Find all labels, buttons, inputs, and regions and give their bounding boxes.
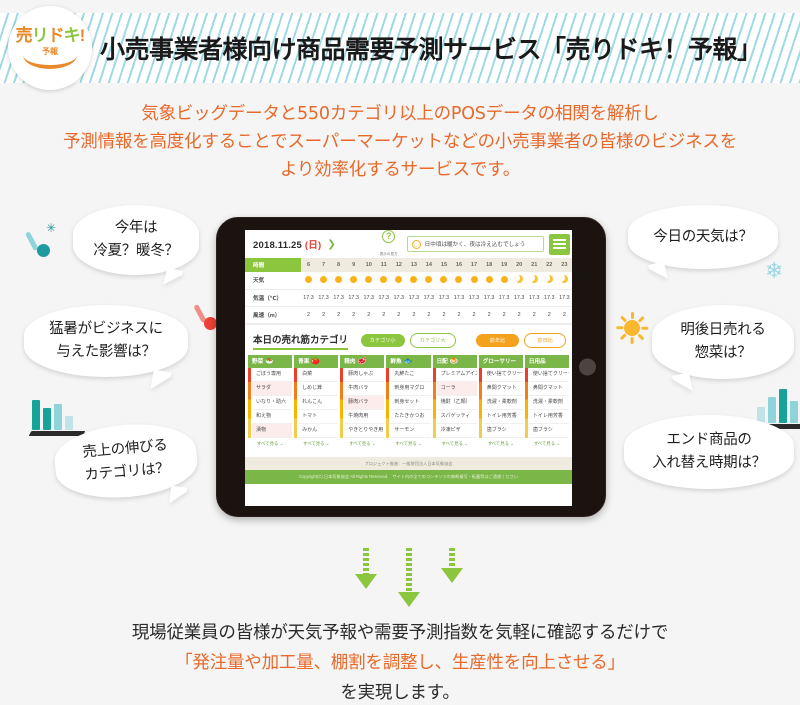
category-item[interactable]: れんこん — [298, 396, 338, 410]
moon-icon — [530, 275, 538, 283]
weather-value-cell: 17.3 — [497, 289, 512, 306]
logo-main-text: 売リドキ! — [16, 27, 85, 44]
help-button[interactable]: ? 表示の見方 — [380, 230, 398, 259]
category-item[interactable]: 刺身用マグロ — [390, 382, 430, 396]
show-all-link[interactable]: すべて見る ⌄ — [386, 438, 430, 452]
category-item[interactable]: みかん — [298, 424, 338, 438]
category-header: 日用品 — [525, 355, 569, 368]
bubble-line: 猛暑がビジネスに — [49, 318, 163, 341]
category-column: 日配🍮プレミアムアイスコーラ焼酎（乙類）スパゲッティ冷凍ピザすべて見る ⌄ — [433, 355, 477, 452]
category-items: 丸鮮たこ刺身用マグロ刺身セットたたきかつおサーモン — [386, 368, 430, 438]
closing-line-1: 現場従業員の皆様が天気予報や需要予測指数を気軽に確認するだけで — [0, 618, 800, 648]
category-item[interactable]: 洗濯・柔軟剤 — [483, 396, 523, 410]
bubble-cool-summer-warm-winter: 今年は 冷夏？暖冬？ — [73, 205, 199, 275]
rank-gradient-bar — [433, 368, 436, 438]
weather-icon-cell — [406, 272, 421, 289]
sun-icon — [471, 276, 478, 283]
weather-value-cell: 17.3 — [331, 289, 346, 306]
weather-value-cell: 2 — [527, 306, 542, 323]
category-items: ごぼう専用サラダいなり・助六和え物漬物 — [248, 368, 292, 438]
bubble-line: 今日の天気は？ — [653, 226, 752, 249]
sun-icon — [425, 276, 432, 283]
category-item[interactable]: 鼻間クマット — [529, 382, 569, 396]
sun-icon — [350, 276, 357, 283]
bubble-line: 与えた影響は？ — [56, 341, 155, 364]
category-name: 日用品 — [529, 357, 546, 365]
weather-row: 風速（m）222222222222222222 — [245, 306, 572, 323]
category-items: 豚肉しゃぶ牛肉バラ豚肉バラ牛焼肉用やきとりやき用 — [340, 368, 384, 438]
tablet-home-button[interactable] — [579, 359, 596, 376]
moon-icon — [545, 275, 553, 283]
bubble-heatwave-impact: 猛暑がビジネスに 与えた影響は？ — [24, 305, 188, 377]
weather-row: 時間67891011121314151617181920212223 — [245, 258, 572, 272]
category-name: 精肉 — [344, 357, 355, 365]
page-root: 売リドキ! 予報 小売事業者様向け商品需要予測サービス「売りドキ！予報」 気象ビ… — [0, 0, 800, 705]
rank-gradient-bar — [386, 368, 389, 438]
category-item[interactable]: 漬物 — [252, 424, 292, 438]
bubble-todays-weather: 今日の天気は？ — [628, 205, 778, 269]
category-item[interactable]: やきとりやき用 — [344, 424, 384, 438]
category-header: グローサリー — [479, 355, 523, 368]
weather-message-text: 日中頃は暖かく、夜は冷え込むでしょう — [425, 240, 526, 248]
weather-value-cell: 17.3 — [436, 289, 451, 306]
weather-message-box: ◡ 日中頃は暖かく、夜は冷え込むでしょう — [407, 236, 544, 252]
weather-value-cell: 17.3 — [301, 289, 316, 306]
category-column: グローサリー使い捨てクリーナー鼻間クマット洗濯・柔軟剤トイレ用芳香歯ブラシすべて… — [479, 355, 523, 452]
weather-icon-cell — [557, 272, 572, 289]
sun-icon — [320, 276, 327, 283]
weather-value-cell: 6 — [301, 258, 316, 272]
lead-paragraph: 気象ビッグデータと550カテゴリ以上のPOSデータの相関を解析し 予測情報を高度… — [0, 100, 800, 184]
bubble-deli-sales-forecast: 明後日売れる 惣菜は？ — [652, 305, 794, 379]
down-arrow-icon — [398, 548, 420, 607]
weather-row-label: 天気 — [245, 272, 301, 289]
down-arrow-icon — [441, 548, 463, 583]
bubble-line: 惣菜は？ — [695, 342, 752, 365]
closing-line-2: 「発注量や加工量、棚割を調整し、生産性を向上させる」 — [0, 648, 800, 678]
category-item[interactable]: 使い捨てクリーナー — [529, 368, 569, 382]
pill-day-over-day[interactable]: 前日比 — [524, 333, 566, 348]
weather-value-cell: 12 — [391, 258, 406, 272]
rank-gradient-bar — [340, 368, 343, 438]
weather-value-cell: 2 — [542, 306, 557, 323]
weather-value-cell: 17.3 — [527, 289, 542, 306]
category-item[interactable]: たたきかつお — [390, 410, 430, 424]
weather-value-cell: 17 — [467, 258, 482, 272]
category-item[interactable]: いなり・助六 — [252, 396, 292, 410]
rank-gradient-bar — [248, 368, 251, 438]
bubble-line: 入れ替え時期は？ — [652, 452, 766, 475]
category-item[interactable]: サラダ — [252, 382, 292, 396]
category-emblem-icon: 🥩 — [357, 358, 366, 365]
weather-icon-cell — [331, 272, 346, 289]
category-item[interactable]: ごぼう専用 — [252, 368, 292, 382]
sun-icon — [501, 276, 508, 283]
category-item[interactable]: スパゲッティ — [437, 410, 477, 424]
closing-line-3: を実現します。 — [0, 678, 800, 705]
weather-value-cell: 2 — [421, 306, 436, 323]
sun-icon — [440, 276, 447, 283]
rank-gradient-bar — [294, 368, 297, 438]
weather-icon-cell — [542, 272, 557, 289]
category-name: 鮮魚 — [390, 357, 401, 365]
question-mark-icon: ? — [382, 230, 395, 243]
weather-value-cell: 2 — [331, 306, 346, 323]
bubble-tail — [163, 267, 183, 288]
section-title: 本日の売れ筋カテゴリ — [253, 332, 348, 350]
weather-icon-cell — [376, 272, 391, 289]
weather-value-cell: 7 — [316, 258, 331, 272]
filter-pills: カテゴリ小 カテゴリ大 前年比 前日比 — [361, 333, 566, 348]
sun-icon — [380, 276, 387, 283]
bubble-tail — [648, 261, 668, 282]
category-item[interactable]: 白菜 — [298, 368, 338, 382]
weather-value-cell: 2 — [557, 306, 572, 323]
category-emblem-icon: 🍮 — [450, 358, 459, 365]
app-top-bar: 2018.11.25 (日) ❯ ? 表示の見方 ◡ 日中頃は暖かく、夜は冷え込… — [245, 230, 572, 258]
page-title: 小売事業者様向け商品需要予測サービス「売りドキ！予報」 — [100, 30, 762, 66]
weather-value-cell: 17.3 — [421, 289, 436, 306]
category-item[interactable]: 牛肉バラ — [344, 382, 384, 396]
sun-icon — [395, 276, 402, 283]
bubble-line: エンド商品の — [666, 429, 751, 452]
weather-icon-cell — [301, 272, 316, 289]
weather-value-cell: 2 — [451, 306, 466, 323]
pill-category-small[interactable]: カテゴリ小 — [361, 334, 405, 347]
weather-row-label: 風速（m） — [245, 306, 301, 323]
logo-arc-icon — [23, 55, 77, 69]
tablet-device: 2018.11.25 (日) ❯ ? 表示の見方 ◡ 日中頃は暖かく、夜は冷え込… — [216, 217, 606, 517]
lead-line-1: 気象ビッグデータと550カテゴリ以上のPOSデータの相関を解析し — [0, 100, 800, 128]
category-items: 白菜しめじ茸れんこんトマトみかん — [294, 368, 338, 438]
weather-value-cell: 17.3 — [361, 289, 376, 306]
weather-value-cell: 2 — [346, 306, 361, 323]
category-emblem-icon: 🥗 — [265, 358, 274, 365]
weather-value-cell: 17.3 — [451, 289, 466, 306]
category-item[interactable]: しめじ茸 — [298, 382, 338, 396]
weather-value-cell: 17.3 — [542, 289, 557, 306]
category-item[interactable]: 刺身セット — [390, 396, 430, 410]
bubble-line: 冷夏？暖冬？ — [93, 240, 178, 263]
category-item[interactable]: 歯ブラシ — [483, 424, 523, 438]
weather-value-cell: 2 — [361, 306, 376, 323]
weather-row: 気温（℃）17.317.317.317.317.317.317.317.317.… — [245, 289, 572, 306]
show-all-link[interactable]: すべて見る ⌄ — [479, 438, 523, 452]
weather-value-cell: 2 — [512, 306, 527, 323]
weather-value-cell: 9 — [346, 258, 361, 272]
category-column: 野菜🥗ごぼう専用サラダいなり・助六和え物漬物すべて見る ⌄ — [248, 355, 292, 452]
sun-icon — [486, 276, 493, 283]
weather-value-cell: 2 — [301, 306, 316, 323]
hamburger-menu-icon[interactable] — [549, 234, 570, 255]
category-header: 野菜🥗 — [248, 355, 292, 368]
category-name: 青果 — [298, 357, 309, 365]
weather-icon-cell — [391, 272, 406, 289]
weather-value-cell: 17.3 — [512, 289, 527, 306]
rank-gradient-bar — [525, 368, 528, 438]
weather-value-cell: 17.3 — [376, 289, 391, 306]
thermometer-cold-icon: ✳ — [30, 222, 62, 262]
category-item[interactable]: 豚肉バラ — [344, 396, 384, 410]
category-column: 精肉🥩豚肉しゃぶ牛肉バラ豚肉バラ牛焼肉用やきとりやき用すべて見る ⌄ — [340, 355, 384, 452]
show-all-link[interactable]: すべて見る ⌄ — [433, 438, 477, 452]
weather-value-cell: 19 — [497, 258, 512, 272]
category-item[interactable]: 冷凍ピザ — [437, 424, 477, 438]
bubble-tail — [150, 370, 171, 393]
weather-value-cell: 2 — [376, 306, 391, 323]
weather-value-cell: 14 — [421, 258, 436, 272]
sun-icon — [305, 276, 312, 283]
show-all-link[interactable]: すべて見る ⌄ — [248, 438, 292, 452]
best-sellers-section-header: 本日の売れ筋カテゴリ カテゴリ小 カテゴリ大 前年比 前日比 — [245, 324, 572, 355]
weather-value-cell: 2 — [467, 306, 482, 323]
weather-value-cell: 8 — [331, 258, 346, 272]
bubble-tail — [672, 372, 693, 394]
bubble-line: 今年は — [115, 217, 158, 240]
weather-icon-cell — [467, 272, 482, 289]
weather-icon-cell — [497, 272, 512, 289]
weather-value-cell: 17.3 — [316, 289, 331, 306]
app-footer-copyright: Copyright(C) 日本気象協会 All Rights Reserved.… — [245, 470, 572, 484]
weather-value-cell: 18 — [482, 258, 497, 272]
weather-value-cell: 17.3 — [467, 289, 482, 306]
sun-icon — [410, 276, 417, 283]
category-emblem-icon: 🍅 — [311, 358, 320, 365]
weather-icon-cell — [316, 272, 331, 289]
weather-icon-cell — [482, 272, 497, 289]
show-all-link[interactable]: すべて見る ⌄ — [294, 438, 338, 452]
weather-value-cell: 2 — [497, 306, 512, 323]
weather-value-cell: 21 — [527, 258, 542, 272]
weather-row-label: 気温（℃） — [245, 289, 301, 306]
rank-gradient-bar — [479, 368, 482, 438]
weather-row: 天気 — [245, 272, 572, 289]
down-arrows-group — [355, 548, 465, 610]
weather-value-cell: 17.3 — [557, 289, 572, 306]
category-item[interactable]: 和え物 — [252, 410, 292, 424]
weather-value-cell: 11 — [376, 258, 391, 272]
sun-icon — [455, 276, 462, 283]
weather-value-cell: 16 — [451, 258, 466, 272]
down-arrow-icon — [355, 548, 377, 589]
show-all-link[interactable]: すべて見る ⌄ — [340, 438, 384, 452]
category-header: 日配🍮 — [433, 355, 477, 368]
category-item[interactable]: 牛焼肉用 — [344, 410, 384, 424]
category-column: 青果🍅白菜しめじ茸れんこんトマトみかんすべて見る ⌄ — [294, 355, 338, 452]
weather-value-cell: 2 — [406, 306, 421, 323]
category-item[interactable]: 豚肉しゃぶ — [344, 368, 384, 382]
weather-value-cell: 23 — [557, 258, 572, 272]
day-of-week: (日) — [305, 240, 321, 251]
current-date: 2018.11.25 (日) — [253, 237, 321, 251]
app-footer-credit: プロジェクト推進：一般財団法人日本気象協会 — [245, 457, 572, 470]
bubble-endcap-rotation: エンド商品の 入れ替え時期は？ — [624, 415, 794, 489]
weather-value-cell: 2 — [316, 306, 331, 323]
category-column: 日用品使い捨てクリーナー鼻間クマット洗濯・柔軟剤トイレ用芳香歯ブラシすべて見る … — [525, 355, 569, 452]
weather-value-cell: 2 — [436, 306, 451, 323]
category-header: 精肉🥩 — [340, 355, 384, 368]
weather-icon-cell — [361, 272, 376, 289]
category-items: 使い捨てクリーナー鼻間クマット洗濯・柔軟剤トイレ用芳香歯ブラシ — [479, 368, 523, 438]
help-label: 表示の見方 — [380, 252, 398, 256]
weather-value-cell: 22 — [542, 258, 557, 272]
weather-icon-cell — [512, 272, 527, 289]
page-header: 売リドキ! 予報 小売事業者様向け商品需要予測サービス「売りドキ！予報」 — [0, 13, 800, 83]
category-columns: 野菜🥗ごぼう専用サラダいなり・助六和え物漬物すべて見る ⌄青果🍅白菜しめじ茸れん… — [245, 355, 572, 452]
show-all-link[interactable]: すべて見る ⌄ — [525, 438, 569, 452]
category-name: グローサリー — [483, 357, 516, 365]
weather-value-cell: 10 — [361, 258, 376, 272]
category-item[interactable]: 鼻間クマット — [483, 382, 523, 396]
weather-value-cell: 15 — [436, 258, 451, 272]
weather-value-cell: 17.3 — [482, 289, 497, 306]
weather-icon-cell — [451, 272, 466, 289]
weather-value-cell: 17.3 — [346, 289, 361, 306]
category-item[interactable]: コーラ — [437, 382, 477, 396]
category-item[interactable]: サーモン — [390, 424, 430, 438]
snowflake-icon: ❄ — [765, 258, 783, 284]
weather-value-cell: 17.3 — [391, 289, 406, 306]
category-header: 青果🍅 — [294, 355, 338, 368]
weather-value-cell: 20 — [512, 258, 527, 272]
moon-icon — [515, 275, 523, 283]
category-items: 使い捨てクリーナー鼻間クマット洗濯・柔軟剤トイレ用芳香歯ブラシ — [525, 368, 569, 438]
weather-value-cell: 13 — [406, 258, 421, 272]
service-logo: 売リドキ! 予報 — [8, 6, 92, 90]
weather-value-cell: 17.3 — [406, 289, 421, 306]
bar-chart-icon-left — [30, 392, 84, 436]
pill-year-over-year[interactable]: 前年比 — [476, 334, 520, 347]
weather-icon-cell — [436, 272, 451, 289]
sun-icon — [335, 276, 342, 283]
weather-icon-cell — [346, 272, 361, 289]
tablet-screen: 2018.11.25 (日) ❯ ? 表示の見方 ◡ 日中頃は暖かく、夜は冷え込… — [245, 230, 572, 506]
category-item[interactable]: 使い捨てクリーナー — [483, 368, 523, 382]
weather-row-label: 時間 — [245, 258, 301, 272]
sun-icon — [617, 313, 647, 343]
category-item[interactable]: トイレ用芳香 — [529, 410, 569, 424]
lead-line-3: より効率化するサービスです。 — [0, 156, 800, 184]
weather-value-cell: 2 — [482, 306, 497, 323]
smile-icon: ◡ — [412, 240, 421, 249]
bubble-line: 明後日売れる — [680, 319, 765, 342]
category-item[interactable]: 洗濯・柔軟剤 — [529, 396, 569, 410]
category-item[interactable]: 焼酎（乙類） — [437, 396, 477, 410]
category-name: 野菜 — [252, 357, 263, 365]
category-item[interactable]: プレミアムアイス — [437, 368, 477, 382]
category-name: 日配 — [437, 357, 448, 365]
category-column: 鮮魚🐟丸鮮たこ刺身用マグロ刺身セットたたきかつおサーモンすべて見る ⌄ — [386, 355, 430, 452]
weather-icon-cell — [421, 272, 436, 289]
category-emblem-icon: 🐟 — [404, 358, 413, 365]
weather-value-cell: 2 — [391, 306, 406, 323]
pill-category-large[interactable]: カテゴリ大 — [410, 333, 456, 348]
category-item[interactable]: トマト — [298, 410, 338, 424]
hourly-weather-table: 時間67891011121314151617181920212223天気気温（℃… — [245, 258, 572, 324]
weather-icon-cell — [527, 272, 542, 289]
category-item[interactable]: トイレ用芳香 — [483, 410, 523, 424]
category-items: プレミアムアイスコーラ焼酎（乙類）スパゲッティ冷凍ピザ — [433, 368, 477, 438]
sun-icon — [365, 276, 372, 283]
lead-line-2: 予測情報を高度化することでスーパーマーケットなどの小売事業者の皆様のビジネスを — [0, 128, 800, 156]
bubble-tail — [169, 486, 187, 506]
moon-icon — [560, 275, 568, 283]
category-item[interactable]: 歯ブラシ — [529, 424, 569, 438]
category-item[interactable]: 丸鮮たこ — [390, 368, 430, 382]
category-header: 鮮魚🐟 — [386, 355, 430, 368]
next-day-button[interactable]: ❯ — [327, 239, 335, 250]
closing-paragraph: 現場従業員の皆様が天気予報や需要予測指数を気軽に確認するだけで 「発注量や加工量… — [0, 618, 800, 705]
